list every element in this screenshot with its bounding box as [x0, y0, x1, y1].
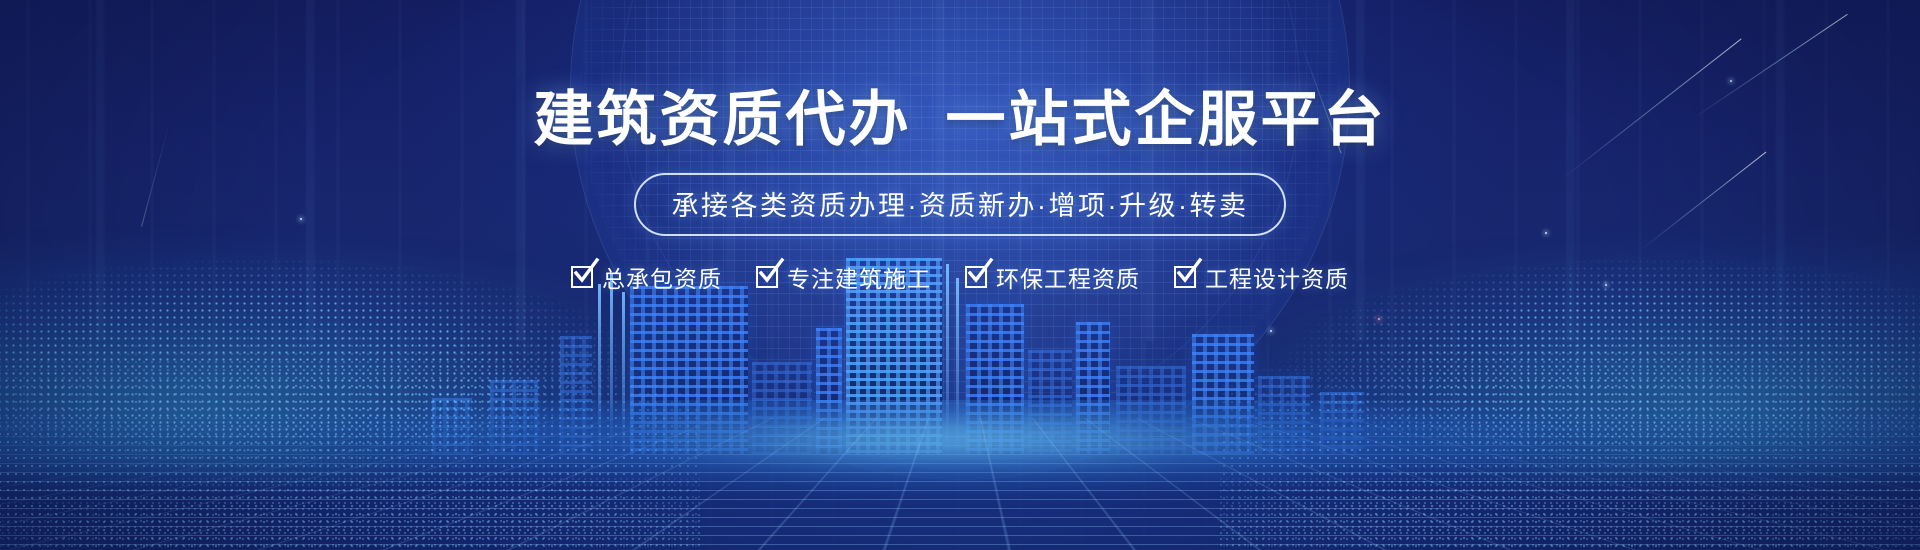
- feature-list: 总承包资质 专注建筑施工 环保工程资质 工程设计资质: [571, 260, 1349, 294]
- feature-item: 环保工程资质: [965, 260, 1140, 294]
- feature-label: 环保工程资质: [996, 260, 1140, 294]
- page-title: 建筑资质代办一站式企服平台: [534, 88, 1387, 151]
- title-part-2: 一站式企服平台: [946, 86, 1387, 153]
- subtitle-pill: 承接各类资质办理·资质新办·增项·升级·转卖: [634, 173, 1287, 236]
- promo-banner: 建筑资质代办一站式企服平台 承接各类资质办理·资质新办·增项·升级·转卖 总承包…: [0, 0, 1920, 550]
- checkbox-checked-icon: [965, 266, 987, 288]
- checkbox-checked-icon: [1174, 266, 1196, 288]
- feature-label: 总承包资质: [602, 260, 722, 294]
- checkbox-checked-icon: [756, 266, 778, 288]
- feature-item: 专注建筑施工: [756, 260, 931, 294]
- banner-content: 建筑资质代办一站式企服平台 承接各类资质办理·资质新办·增项·升级·转卖 总承包…: [0, 0, 1920, 550]
- feature-label: 工程设计资质: [1205, 260, 1349, 294]
- feature-item: 总承包资质: [571, 260, 722, 294]
- feature-label: 专注建筑施工: [787, 260, 931, 294]
- feature-item: 工程设计资质: [1174, 260, 1349, 294]
- title-part-1: 建筑资质代办: [534, 86, 912, 153]
- checkbox-checked-icon: [571, 266, 593, 288]
